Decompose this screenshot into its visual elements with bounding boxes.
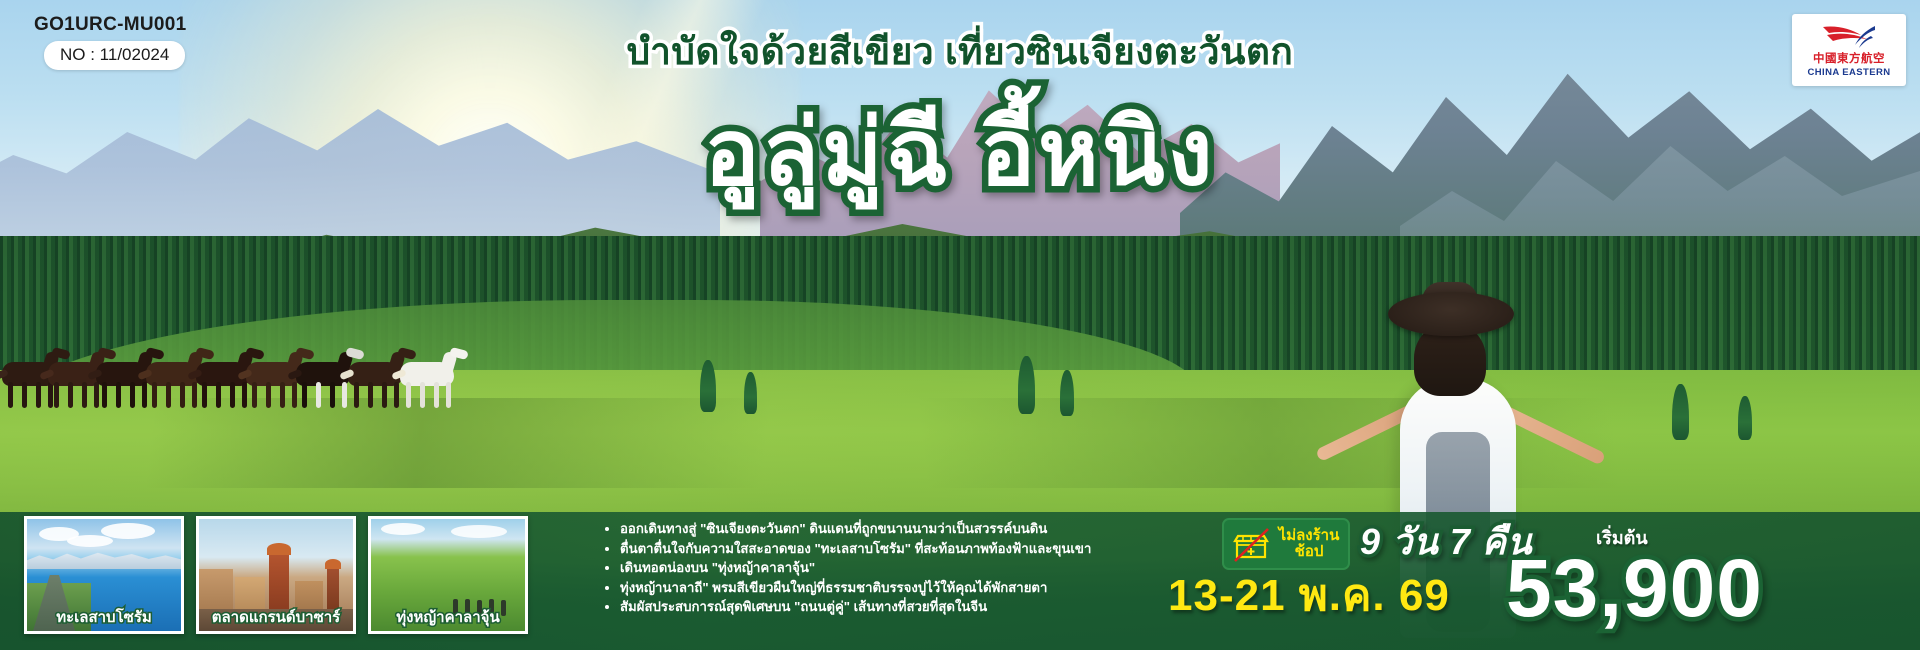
travel-promo-banner: GO1URC-MU001 NO : 11/02024 中國東方航空 CHINA … bbox=[0, 0, 1920, 650]
no-shopping-line1: ไม่ลงร้าน bbox=[1279, 527, 1340, 544]
thumbnail-card[interactable]: ตลาดแกรนด์บาซาร์ bbox=[196, 516, 356, 634]
no-shopping-icon bbox=[1230, 523, 1272, 565]
no-shopping-label: ไม่ลงร้าน ช้อป bbox=[1276, 528, 1342, 560]
thumbnail-caption: ตลาดแกรนด์บาซาร์ bbox=[199, 605, 353, 631]
meadow-tree bbox=[1060, 370, 1074, 416]
horse-herd bbox=[0, 318, 560, 408]
meadow-path bbox=[0, 398, 1920, 488]
list-item: สัมผัสประสบการณ์สุดพิเศษบน "ถนนตู่คู่" เ… bbox=[620, 598, 1158, 615]
thumbnail-caption: ทุ่งหญ้าคาลาจุ้น bbox=[371, 605, 525, 631]
thumbnail-card[interactable]: ทุ่งหญ้าคาลาจุ้น bbox=[368, 516, 528, 634]
thumbnail-strip: ทะเลสาบโซรัม ตลาดแกรนด์บาซาร์ bbox=[24, 516, 528, 634]
banner-subtitle: บำบัดใจด้วยสีเขียว เที่ยวซินเจียงตะวันตก bbox=[0, 22, 1920, 81]
list-item: ออกเดินทางสู่ "ซินเจียงตะวันตก" ดินแดนที… bbox=[620, 520, 1158, 537]
meadow-tree bbox=[1018, 356, 1035, 414]
price-value: 53,900 bbox=[1506, 542, 1763, 636]
meadow-tree bbox=[1738, 396, 1752, 440]
meadow-tree bbox=[700, 360, 716, 412]
meadow-tree bbox=[1672, 384, 1689, 440]
banner-title: อูลู่มู่ฉี อี้หนิง bbox=[0, 78, 1920, 225]
meadow-tree bbox=[744, 372, 757, 414]
thumbnail-caption: ทะเลสาบโซรัม bbox=[27, 605, 181, 631]
travel-dates: 13-21 พ.ค. 69 bbox=[1168, 560, 1450, 630]
list-item: ตื่นตาตื่นใจกับความใสสะอาดของ "ทะเลสาบโซ… bbox=[620, 540, 1158, 557]
no-shopping-line2: ช้อป bbox=[1295, 543, 1324, 560]
list-item: ทุ่งหญ้านาลาถี" พรมสีเขียวผืนใหญ่ที่ธรรม… bbox=[620, 579, 1158, 596]
list-item: เดินทอดน่องบน "ทุ่งหญ้าคาลาจุ้น" bbox=[620, 559, 1158, 576]
sun-hat-icon bbox=[1388, 292, 1514, 336]
highlights-list: ออกเดินทางสู่ "ซินเจียงตะวันตก" ดินแดนที… bbox=[598, 520, 1158, 618]
thumbnail-card[interactable]: ทะเลสาบโซรัม bbox=[24, 516, 184, 634]
